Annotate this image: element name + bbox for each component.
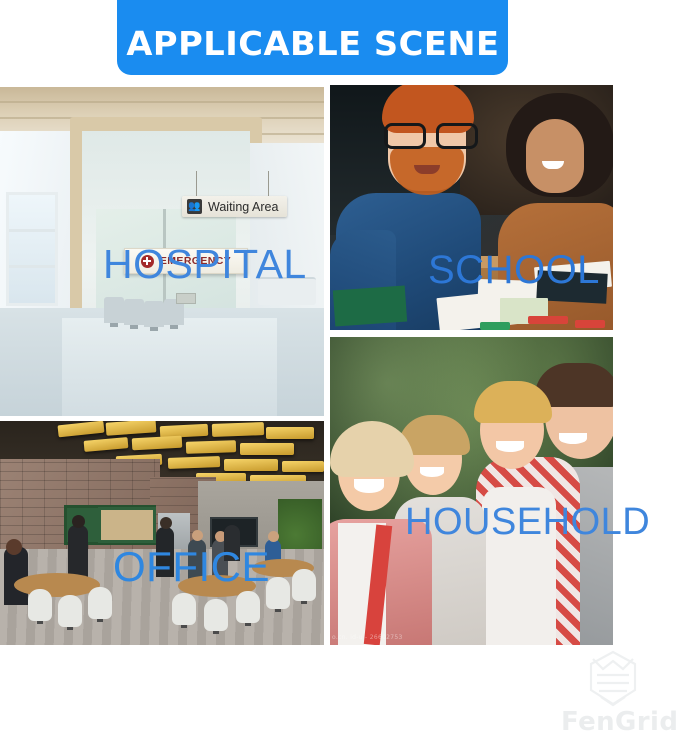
office-photo [0,421,324,645]
office-person-head [268,531,279,542]
hospital-chair [104,297,124,323]
scene-panel-school [330,85,613,330]
office-person [68,525,88,581]
hospital-exit-sign [176,293,196,304]
waiting-area-sign: 👥 Waiting Area [182,196,287,217]
school-marker [575,320,605,328]
fengrid-brand-text: FenGrid [561,707,678,737]
fengrid-watermark-logo: FenGrid [557,647,679,739]
office-chair [292,569,316,601]
hospital-inner-floor [62,318,277,416]
household-father-smile [559,433,587,444]
scene-label-school: SCHOOL [428,250,600,290]
school-marker [480,322,510,330]
school-student-female-face [526,119,584,193]
office-chair [172,593,196,625]
waiting-area-sign-label: Waiting Area [208,200,278,214]
household-boy-smile [496,441,524,452]
school-green-notebook [333,286,407,327]
school-photo [330,85,613,330]
scene-label-hospital: HOSPITAL [103,244,307,285]
applicable-scene-banner: APPLICABLE SCENE [117,0,508,75]
office-person-head [6,539,22,555]
office-chair [204,599,228,631]
hospital-window [6,192,58,306]
office-person-head [192,530,203,541]
hospital-chair [124,299,144,325]
scene-panel-household: o.cn. id-u - 26602753 [330,337,613,645]
banner-title: APPLICABLE SCENE [126,27,499,75]
hospital-chair [144,301,164,327]
office-chair [88,587,112,619]
household-mother-smile [354,479,384,493]
office-person-head [160,517,172,529]
household-photo: o.cn. id-u - 26602753 [330,337,613,645]
scene-label-office: OFFICE [113,546,270,588]
office-table [14,573,100,597]
office-chair [28,589,52,621]
household-girl-smile [420,467,444,477]
glasses-icon [384,123,478,143]
people-pictogram-icon: 👥 [187,199,202,214]
stock-photo-watermark: o.cn. id-u - 26602753 [332,634,403,641]
school-marker [528,316,568,324]
office-person-head [72,515,85,528]
office-chair [58,595,82,627]
office-shelf [98,507,156,543]
office-chair [236,591,260,623]
scene-label-household: HOUSEHOLD [405,503,650,541]
scene-panel-office [0,421,324,645]
